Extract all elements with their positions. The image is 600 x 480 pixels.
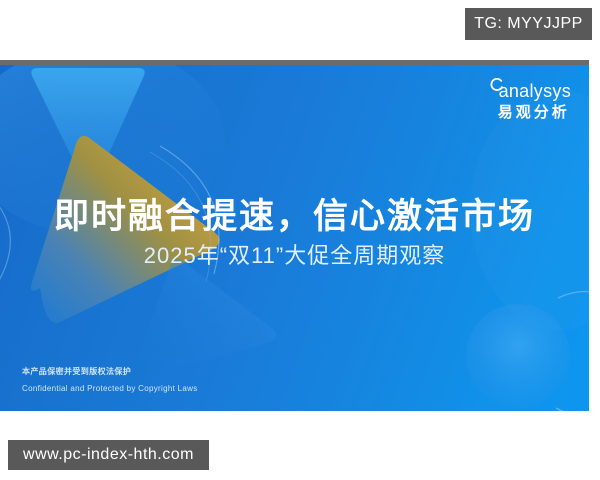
telegram-watermark-badge: TG: MYYJJPP bbox=[465, 8, 592, 40]
copyright-footer: 本产品保密并受到版权法保护 Confidential and Protected… bbox=[22, 366, 198, 393]
copyright-english: Confidential and Protected by Copyright … bbox=[22, 384, 198, 393]
logo-chinese-text: 易观分析 bbox=[497, 105, 571, 120]
slide-subtitle: 2025年“双11”大促全周期观察 bbox=[0, 238, 589, 270]
presentation-slide: analysys 易观分析 即时融合提速，信心激活市场 2025年“双11”大促… bbox=[0, 60, 589, 411]
slide-title: 即时融合提速，信心激活市场 bbox=[0, 188, 589, 239]
logo-wordmark: analysys bbox=[497, 82, 571, 100]
logo-wordmark-text: analysys bbox=[499, 81, 571, 101]
copyright-chinese: 本产品保密并受到版权法保护 bbox=[22, 366, 198, 377]
analysys-logo: analysys 易观分析 bbox=[497, 82, 571, 120]
site-url-watermark-badge: www.pc-index-hth.com bbox=[8, 440, 209, 470]
swoosh-circle-icon bbox=[490, 78, 504, 92]
slide-top-strip bbox=[0, 60, 589, 65]
